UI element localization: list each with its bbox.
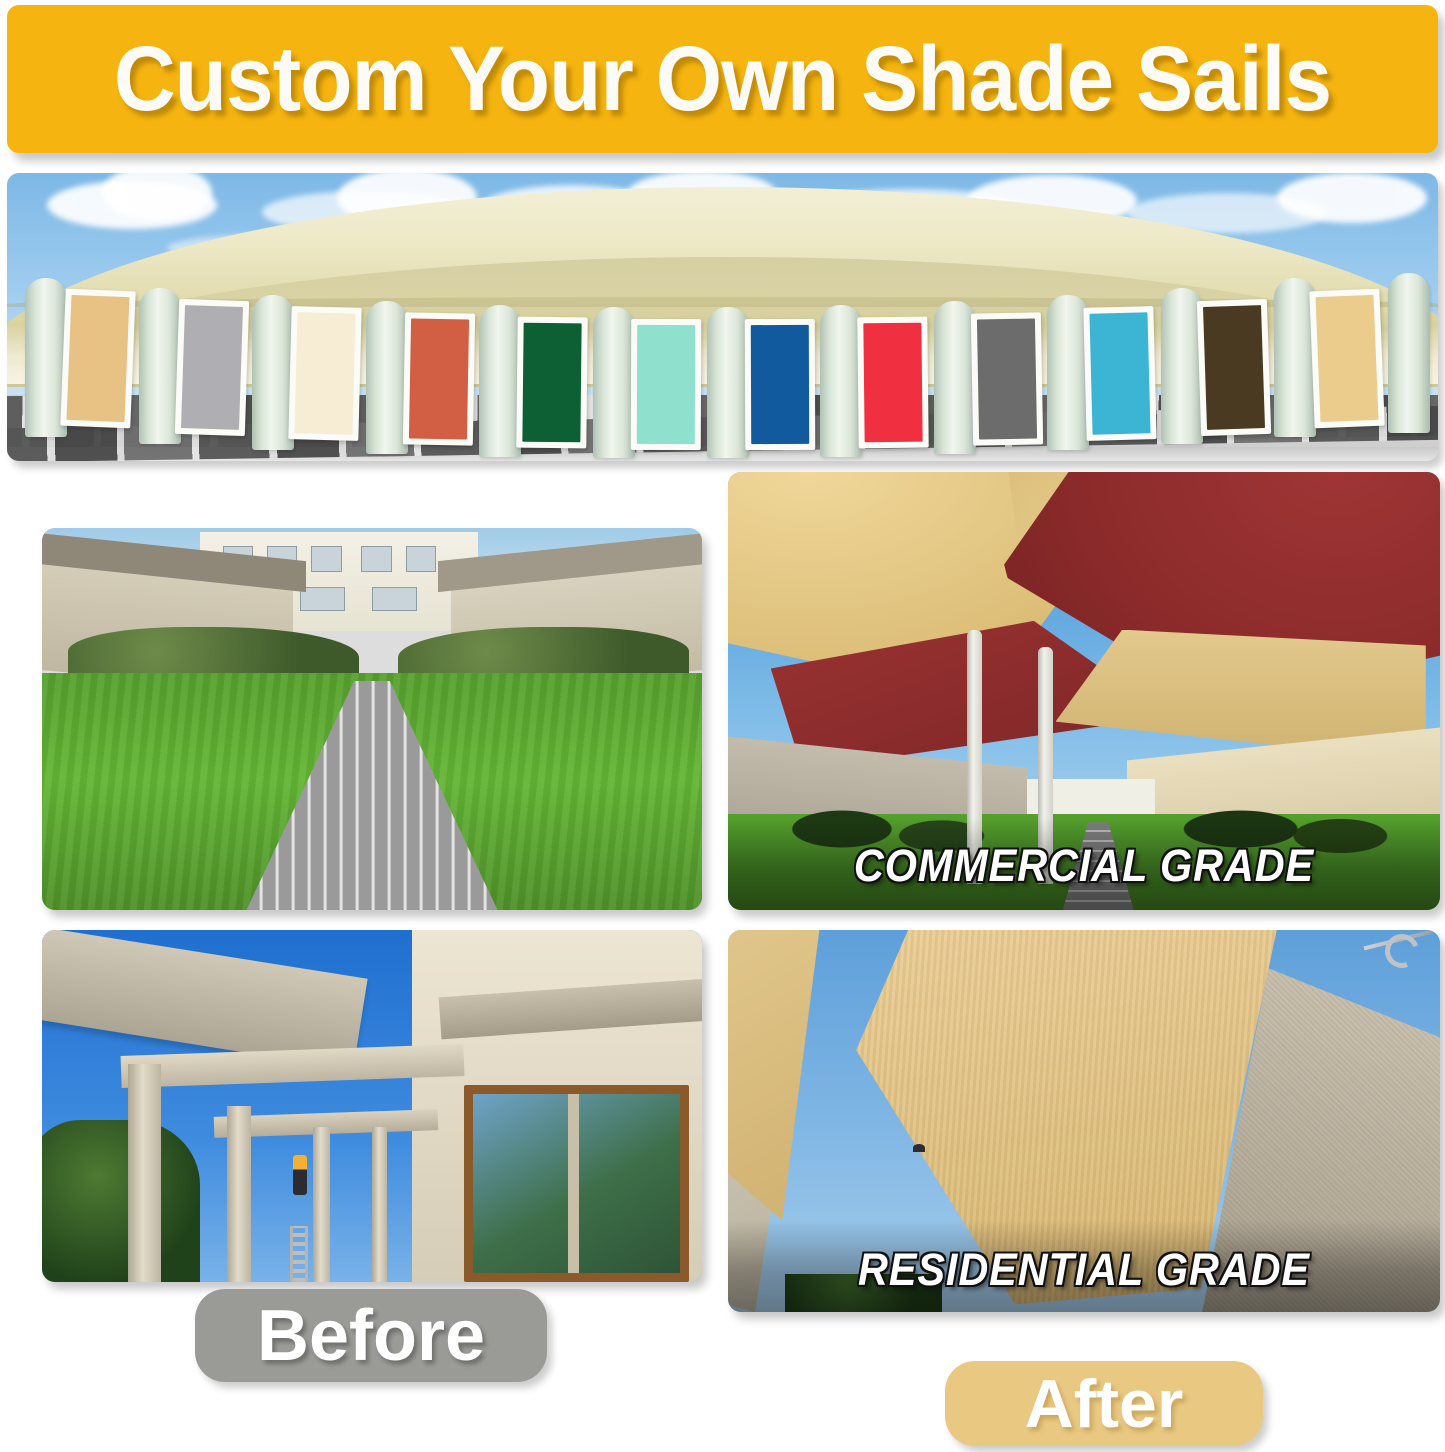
exterior-light <box>913 1144 925 1152</box>
color-swatch-dark-brown[interactable] <box>1197 299 1271 436</box>
colonnade-swatch-row <box>7 173 1438 461</box>
color-swatch-fill <box>1316 295 1379 422</box>
color-swatch-cream[interactable] <box>288 307 361 442</box>
pergola-column <box>372 1127 387 1282</box>
color-swatch-fill <box>863 323 922 443</box>
colonnade-column <box>479 305 521 457</box>
photo-courtyard-before <box>42 528 702 910</box>
color-swatch-fill <box>977 319 1037 440</box>
before-badge-label: Before <box>257 1300 485 1372</box>
color-swatch-fill <box>67 295 130 422</box>
color-swatch-fill <box>1203 305 1265 430</box>
color-swatch-fill <box>1090 313 1151 435</box>
worker-figure <box>293 1155 307 1195</box>
color-swatch-dark-green[interactable] <box>517 316 588 448</box>
pergola-column <box>128 1064 161 1282</box>
colonnade-column <box>366 301 408 454</box>
colonnade-column <box>1388 273 1430 433</box>
colonnade-column <box>934 301 976 454</box>
color-swatch-charcoal-grey[interactable] <box>970 312 1042 445</box>
page-title: Custom Your Own Shade Sails <box>114 33 1331 125</box>
colonnade-column <box>820 305 862 457</box>
window <box>311 546 341 572</box>
color-swatch-mint-green[interactable] <box>631 319 701 450</box>
color-swatch-wheat[interactable] <box>1310 289 1385 428</box>
color-options-panel <box>7 173 1438 461</box>
color-swatch-fill <box>409 319 469 440</box>
color-swatch-red[interactable] <box>857 316 928 448</box>
window <box>372 587 416 611</box>
color-swatch-fill <box>523 323 582 443</box>
color-swatch-fill <box>750 325 808 444</box>
pergola-column <box>227 1106 251 1282</box>
photo-pergola-before <box>42 930 702 1282</box>
after-badge: After <box>945 1361 1263 1446</box>
color-swatch-turquoise[interactable] <box>1084 307 1157 442</box>
window <box>300 587 344 611</box>
residential-grade-caption: RESIDENTIAL GRADE <box>756 1244 1411 1296</box>
product-marketing-image: Custom Your Own Shade Sails <box>0 0 1445 1452</box>
header-banner: Custom Your Own Shade Sails <box>7 5 1438 153</box>
pergola-column <box>313 1127 330 1282</box>
window <box>406 546 436 572</box>
tree-foliage <box>42 1120 200 1282</box>
step-ladder <box>290 1226 308 1282</box>
color-swatch-fill <box>637 325 695 444</box>
photo-residential-grade: RESIDENTIAL GRADE <box>728 930 1440 1312</box>
colonnade-column <box>593 307 635 459</box>
color-swatch-light-grey[interactable] <box>174 299 248 436</box>
colonnade-column <box>707 307 749 459</box>
photo-commercial-grade: COMMERCIAL GRADE <box>728 472 1440 910</box>
after-badge-label: After <box>1025 1370 1184 1438</box>
before-badge: Before <box>195 1289 547 1382</box>
color-swatch-terracotta[interactable] <box>403 312 475 445</box>
color-swatch-sand[interactable] <box>60 289 135 428</box>
window <box>361 546 391 572</box>
color-swatch-fill <box>295 313 356 435</box>
color-swatch-royal-blue[interactable] <box>744 319 814 450</box>
sliding-glass-door <box>464 1085 688 1282</box>
commercial-grade-caption: COMMERCIAL GRADE <box>756 840 1411 892</box>
color-swatch-fill <box>181 305 243 430</box>
